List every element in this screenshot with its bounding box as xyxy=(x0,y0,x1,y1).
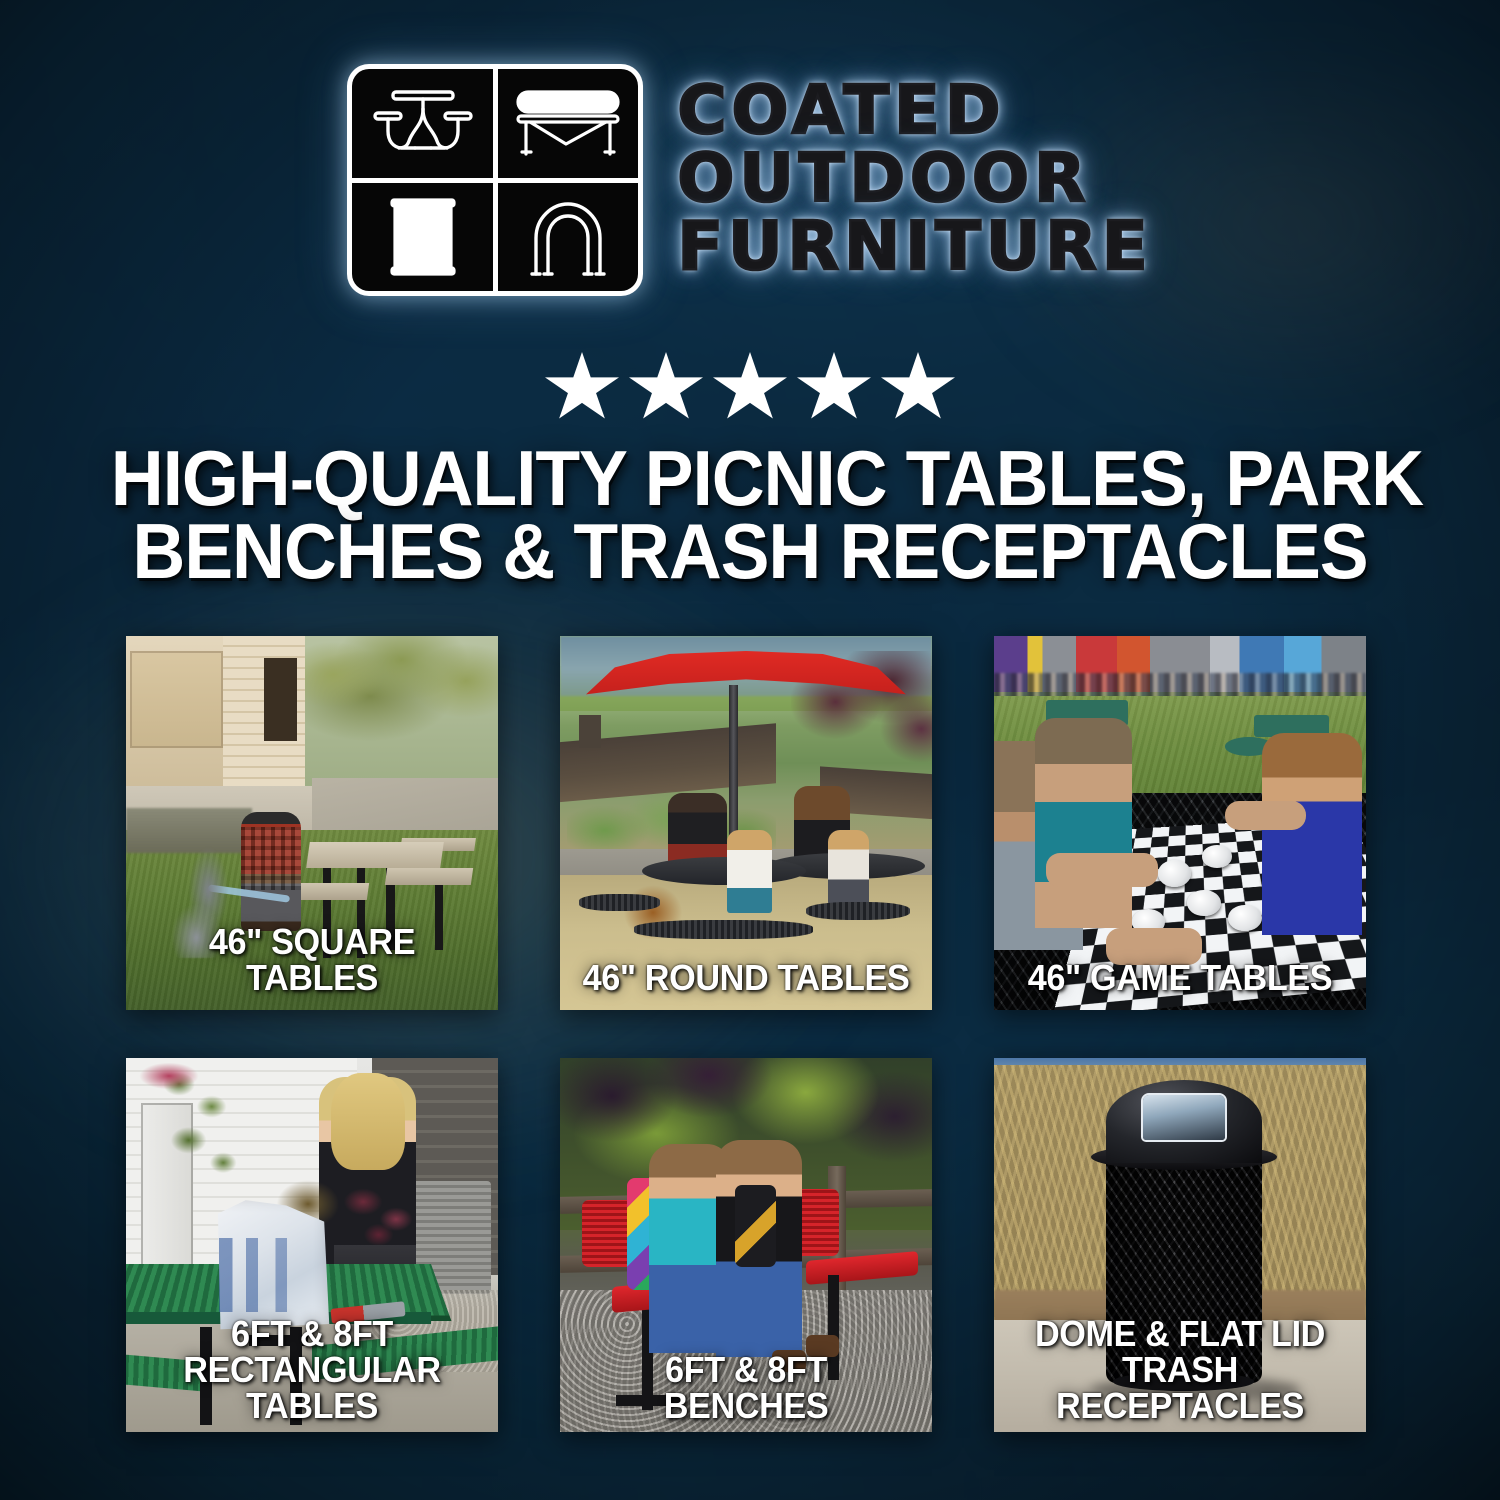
product-caption-line-1: DOME & FLAT LID xyxy=(1011,1316,1349,1352)
brand-header: COATED OUTDOOR FURNITURE xyxy=(0,64,1500,296)
product-photo xyxy=(994,636,1366,1010)
product-tile-trash-receptacles[interactable]: DOME & FLAT LID TRASH RECEPTACLES xyxy=(994,1058,1366,1432)
picnic-table-icon xyxy=(352,69,493,178)
bench-icon xyxy=(498,69,639,178)
star-icon xyxy=(797,352,871,424)
star-rating xyxy=(0,352,1500,424)
star-icon xyxy=(713,352,787,424)
product-caption: 46" SQUARE TABLES xyxy=(143,924,481,996)
brand-name-line-3: FURNITURE xyxy=(677,213,1152,279)
brand-name-line-2: OUTDOOR xyxy=(677,145,1090,211)
brand-logo-mark xyxy=(347,64,643,296)
product-caption-line-1: 46" GAME TABLES xyxy=(1011,960,1349,996)
product-caption-line-1: 46" ROUND TABLES xyxy=(577,960,915,996)
star-icon xyxy=(881,352,955,424)
product-caption: DOME & FLAT LID TRASH RECEPTACLES xyxy=(1011,1316,1349,1424)
star-icon xyxy=(545,352,619,424)
product-caption: 6FT & 8FT RECTANGULAR TABLES xyxy=(143,1316,481,1424)
page-title: HIGH-QUALITY PICNIC TABLES, PARK BENCHES… xyxy=(111,442,1389,587)
brand-name: COATED OUTDOOR FURNITURE xyxy=(677,77,1152,284)
page-title-line-2: BENCHES & TRASH RECEPTACLES xyxy=(111,515,1389,588)
page-title-line-1: HIGH-QUALITY PICNIC TABLES, PARK xyxy=(111,442,1389,515)
trash-receptacle-icon xyxy=(352,183,493,292)
product-caption-line-2: TRASH RECEPTACLES xyxy=(1011,1352,1349,1424)
brand-name-line-1: COATED xyxy=(677,77,1005,143)
product-photo xyxy=(560,636,932,1010)
product-caption-line-1: 6FT & 8FT xyxy=(577,1352,915,1388)
product-grid: 46" SQUARE TABLES xyxy=(126,636,1384,1432)
promo-poster: COATED OUTDOOR FURNITURE HIGH-QUALITY PI… xyxy=(0,0,1500,1500)
product-caption-line-2: BENCHES xyxy=(577,1388,915,1424)
product-caption-line-2: RECTANGULAR TABLES xyxy=(143,1352,481,1424)
product-caption: 6FT & 8FT BENCHES xyxy=(577,1352,915,1424)
bike-rack-icon xyxy=(498,183,639,292)
product-caption-line-1: 6FT & 8FT xyxy=(143,1316,481,1352)
product-tile-square-tables[interactable]: 46" SQUARE TABLES xyxy=(126,636,498,1010)
product-tile-rectangular-tables[interactable]: 6FT & 8FT RECTANGULAR TABLES xyxy=(126,1058,498,1432)
product-caption-line-1: 46" SQUARE TABLES xyxy=(143,924,481,996)
product-caption: 46" ROUND TABLES xyxy=(577,960,915,996)
product-tile-benches[interactable]: 6FT & 8FT BENCHES xyxy=(560,1058,932,1432)
product-tile-round-tables[interactable]: 46" ROUND TABLES xyxy=(560,636,932,1010)
product-tile-game-tables[interactable]: 46" GAME TABLES xyxy=(994,636,1366,1010)
product-caption: 46" GAME TABLES xyxy=(1011,960,1349,996)
star-icon xyxy=(629,352,703,424)
